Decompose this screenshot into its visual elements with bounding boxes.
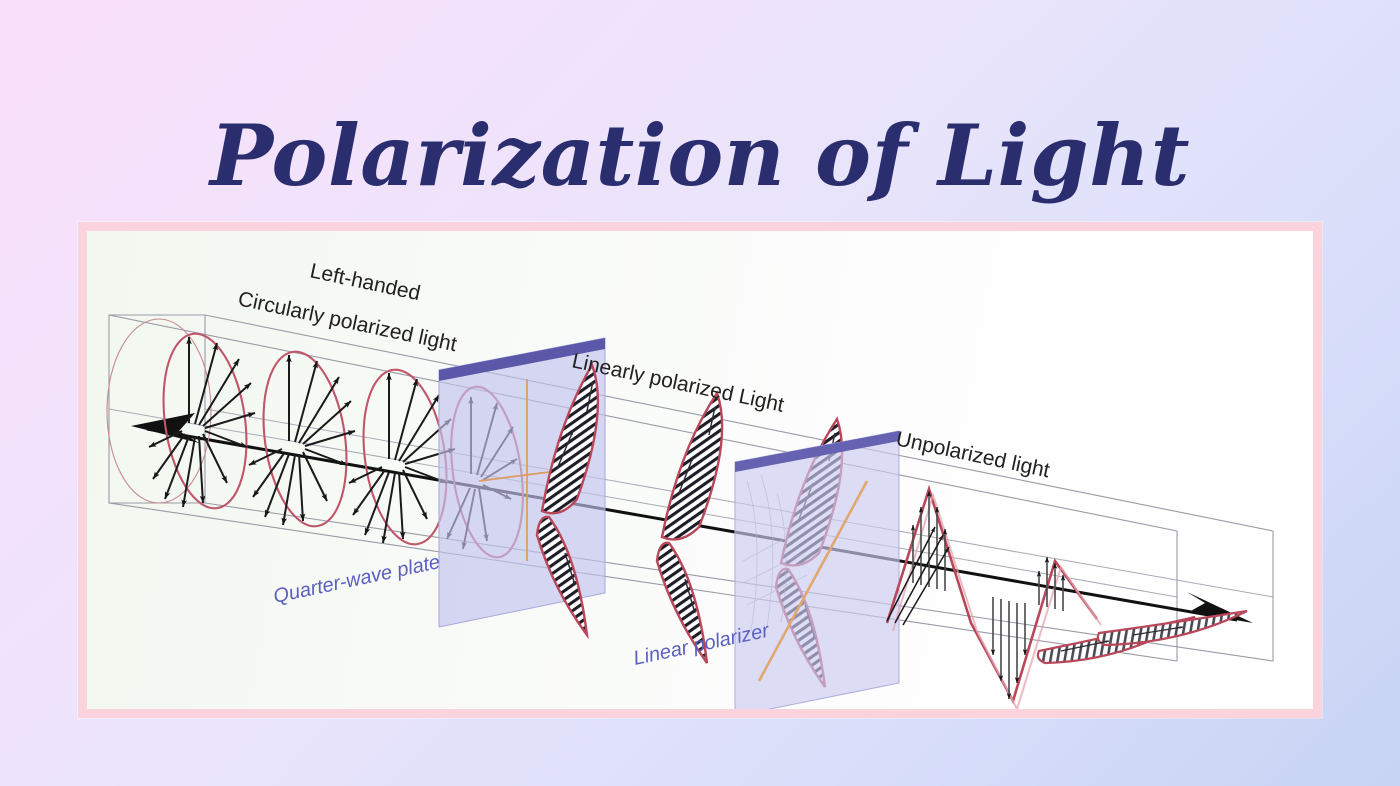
figure-frame: Left-handed Circularly polarized light L… xyxy=(78,222,1322,718)
slide: Polarization of Light xyxy=(0,0,1400,786)
polarization-diagram: Left-handed Circularly polarized light L… xyxy=(87,231,1313,709)
unpolarized-wave xyxy=(887,489,1247,709)
figure-canvas: Left-handed Circularly polarized light L… xyxy=(87,231,1313,709)
page-title: Polarization of Light xyxy=(0,108,1400,204)
diagram-label-left-handed-circular: Left-handed Circularly polarized light xyxy=(236,259,459,356)
label-unpolarized: Unpolarized light xyxy=(894,427,1052,482)
label-quarter-wave-plate: Quarter-wave plate xyxy=(271,551,442,608)
label-left-handed-line1: Left-handed xyxy=(308,259,422,305)
linear-polarizer-optic[interactable] xyxy=(735,431,899,709)
label-left-handed-line2: Circularly polarized light xyxy=(236,287,459,356)
